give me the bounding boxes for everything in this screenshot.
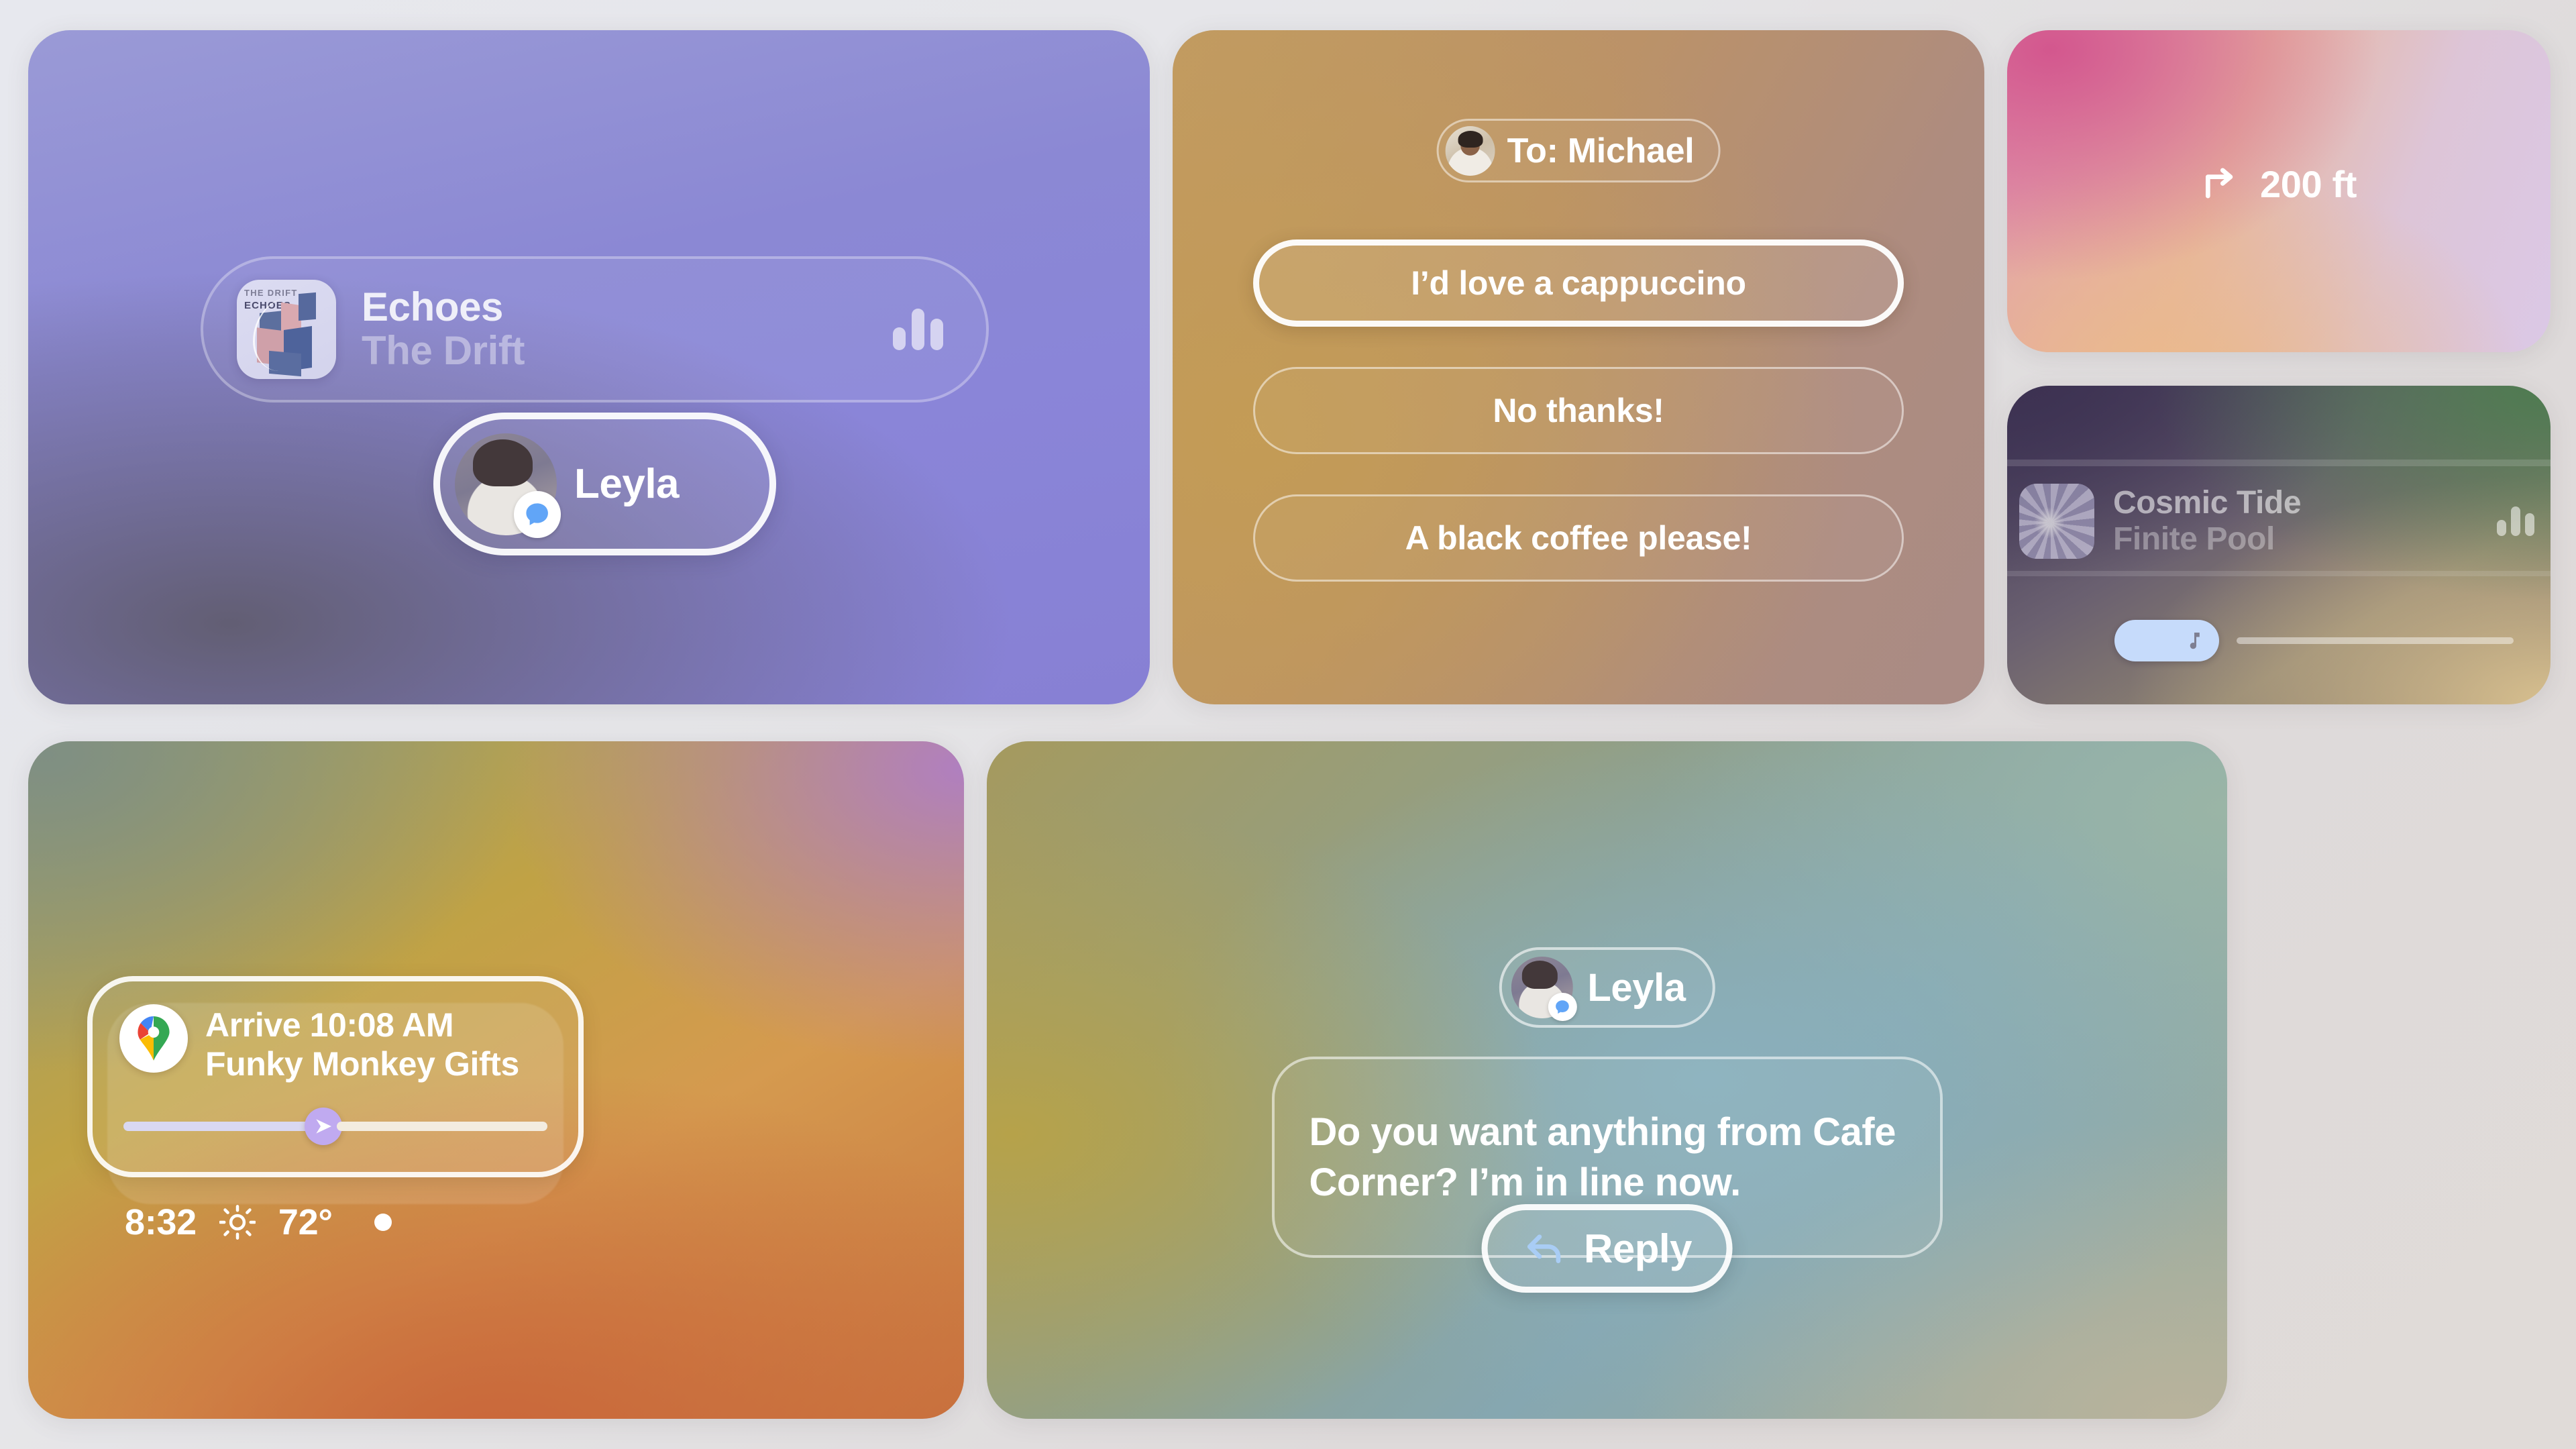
divider-mid	[2007, 571, 2551, 576]
track-title: Echoes	[362, 286, 893, 329]
music-slider-thumb[interactable]	[2114, 620, 2219, 661]
status-temperature: 72°	[278, 1201, 333, 1243]
avatar-michael	[1446, 126, 1495, 176]
google-maps-pin-icon	[119, 1004, 188, 1073]
message-sender-pill[interactable]: Leyla	[1499, 947, 1715, 1028]
maps-eta: Arrive 10:08 AM	[205, 1006, 519, 1044]
sun-icon	[219, 1204, 256, 1240]
messages-badge-icon	[514, 491, 561, 538]
album-art-spiral	[2019, 484, 2094, 559]
now-playing-card[interactable]: THE DRIFT ECHOES Echoes The Drift Le	[28, 30, 1150, 704]
navigation-distance-card[interactable]: 200 ft	[2007, 30, 2551, 352]
message-card[interactable]: Leyla Do you want anything from Cafe Cor…	[987, 741, 2227, 1419]
reply-option-label: A black coffee please!	[1405, 519, 1752, 557]
now-playing-text: Echoes The Drift	[362, 286, 893, 373]
reply-button-label: Reply	[1584, 1226, 1692, 1272]
turn-right-icon	[2201, 163, 2243, 205]
dot-indicator	[374, 1214, 392, 1231]
music-slider[interactable]	[2114, 619, 2514, 662]
now-playing-pill[interactable]: THE DRIFT ECHOES Echoes The Drift	[201, 256, 989, 402]
reply-button[interactable]: Reply	[1481, 1204, 1733, 1293]
reply-option-label: I’d love a cappuccino	[1411, 264, 1746, 303]
recipient-pill[interactable]: To: Michael	[1437, 119, 1721, 182]
reply-arrow-icon	[1522, 1227, 1565, 1270]
reply-option-0[interactable]: I’d love a cappuccino	[1253, 239, 1904, 327]
navigation-distance: 200 ft	[2260, 162, 2357, 206]
route-progress-slider[interactable]	[123, 1113, 547, 1140]
divider-top	[2007, 460, 2551, 466]
widget-board: THE DRIFT ECHOES Echoes The Drift Le	[0, 0, 2576, 1449]
navigation-row: 200 ft	[2201, 162, 2357, 206]
music-slider-track[interactable]	[2237, 637, 2514, 644]
equalizer-icon	[893, 309, 943, 350]
reply-option-1[interactable]: No thanks!	[1253, 367, 1904, 454]
avatar	[455, 433, 557, 535]
status-row: 8:32 72°	[125, 1201, 392, 1243]
avatar	[1511, 957, 1572, 1018]
album-art: THE DRIFT ECHOES	[237, 280, 336, 379]
reply-option-2[interactable]: A black coffee please!	[1253, 494, 1904, 582]
route-progress-remaining	[337, 1122, 547, 1131]
status-time: 8:32	[125, 1201, 197, 1243]
track-title: Cosmic Tide	[2113, 486, 2497, 521]
album-art-label-top: THE DRIFT	[244, 288, 298, 298]
track-artist: The Drift	[362, 329, 893, 373]
equalizer-icon	[2497, 506, 2534, 536]
music-note-icon	[2180, 629, 2204, 653]
music-mini-card[interactable]: Cosmic Tide Finite Pool	[2007, 386, 2551, 704]
recipient-label: To: Michael	[1507, 131, 1695, 171]
track-artist: Finite Pool	[2113, 521, 2497, 557]
reply-option-label: No thanks!	[1493, 391, 1664, 430]
maps-stack: Arrive 10:08 AM Funky Monkey Gifts	[87, 976, 584, 1177]
music-mini-row: Cosmic Tide Finite Pool	[2019, 484, 2534, 559]
navigation-arrow-icon	[313, 1116, 334, 1137]
caller-name: Leyla	[574, 460, 679, 508]
messages-badge-icon	[1548, 993, 1576, 1021]
maps-eta-panel[interactable]: Arrive 10:08 AM Funky Monkey Gifts	[87, 976, 584, 1177]
message-sender-name: Leyla	[1587, 965, 1685, 1010]
maps-card[interactable]: Arrive 10:08 AM Funky Monkey Gifts	[28, 741, 964, 1419]
message-body: Do you want anything from Cafe Corner? I…	[1309, 1107, 1905, 1208]
maps-destination: Funky Monkey Gifts	[205, 1044, 519, 1083]
smart-replies-card[interactable]: To: Michael I’d love a cappuccino No tha…	[1173, 30, 1984, 704]
caller-pill[interactable]: Leyla	[433, 413, 776, 555]
route-progress-done	[123, 1122, 310, 1131]
